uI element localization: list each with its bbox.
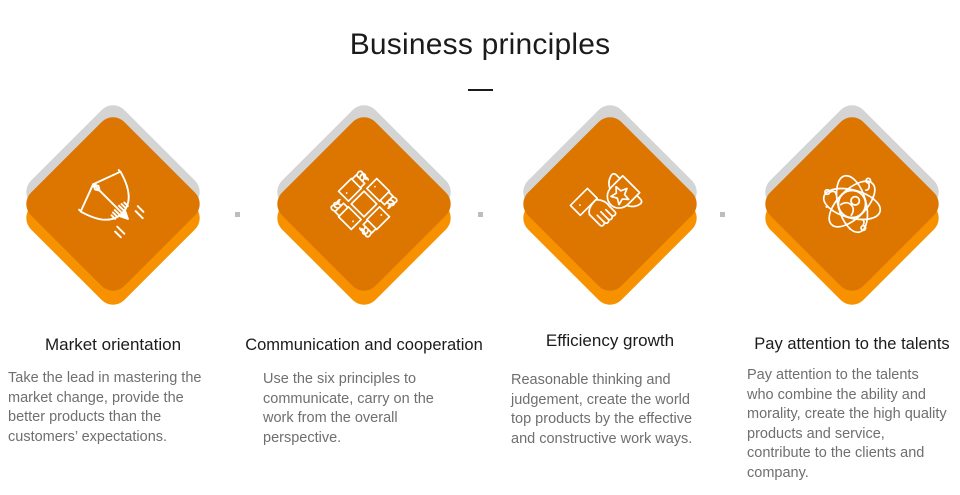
principle-card[interactable]: Communication and cooperation Use the si… [243,0,485,495]
diamond-badge[interactable] [269,118,459,323]
separator-dot [478,212,483,217]
principle-card[interactable]: Efficiency growth Reasonable thinking an… [489,0,731,495]
card-body: Use the six principles to communicate, c… [263,370,463,448]
diamond-badge[interactable] [18,118,208,323]
separator-dot [235,212,240,217]
card-heading: Communication and cooperation [243,334,485,356]
diamond-badge[interactable] [757,118,947,323]
principles-row: Market orientation Take the lead in mast… [0,0,960,495]
teamwork-hands-icon [271,111,458,298]
hand-holding-trophy-icon [517,111,704,298]
card-heading: Pay attention to the talents [731,333,960,355]
separator-dot [720,212,725,217]
diamond-badge[interactable] [515,118,705,323]
card-heading: Market orientation [0,334,234,356]
card-body: Pay attention to the talents who combine… [747,366,947,483]
card-body: Take the lead in mastering the market ch… [8,369,208,447]
bow-and-arrow-icon [20,111,207,298]
card-body: Reasonable thinking and judgement, creat… [511,371,707,449]
principle-card[interactable]: Market orientation Take the lead in mast… [0,0,234,495]
principle-card[interactable]: Pay attention to the talents Pay attenti… [731,0,960,495]
card-heading: Efficiency growth [489,330,731,352]
atom-person-icon [759,111,946,298]
